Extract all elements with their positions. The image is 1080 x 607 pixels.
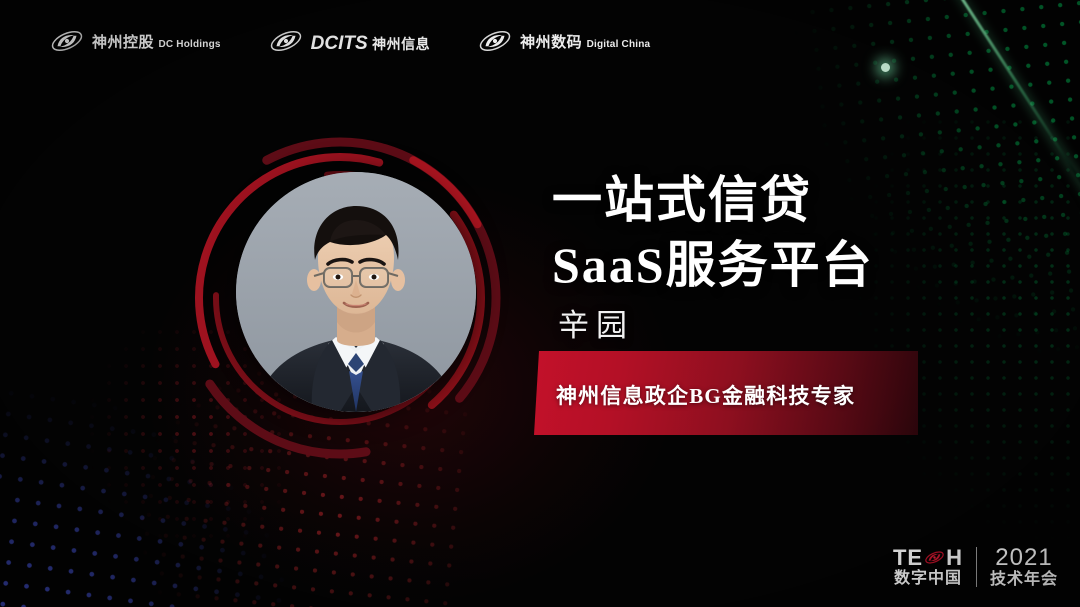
brand-logo-bar: 神州控股 DC Holdings DCITS 神州信息	[50, 28, 650, 59]
dc-swirl-icon	[478, 28, 512, 59]
brand-name-en: Digital China	[587, 39, 651, 50]
brand-logo-dcits: DCITS 神州信息	[269, 28, 430, 59]
light-streak	[942, 0, 1080, 222]
speaker-title-text: 神州信息政企BG金融科技专家	[556, 380, 855, 410]
brand-name-cn: 神州数码	[520, 34, 582, 51]
avatar	[236, 172, 476, 412]
brand-name-cn: 神州信息	[372, 36, 430, 52]
brand-name-en: DC Holdings	[158, 39, 220, 50]
tech-subtitle-cn: 数字中国	[893, 571, 963, 588]
title-line-1: 一站式信贷	[552, 168, 874, 233]
page-title: 一站式信贷 SaaS服务平台	[552, 168, 874, 298]
speaker-name: 辛园	[558, 300, 634, 345]
presentation-slide: 神州控股 DC Holdings DCITS 神州信息	[0, 0, 1080, 607]
dc-swirl-icon	[50, 28, 84, 59]
brand-logo-dc-holdings: 神州控股 DC Holdings	[50, 28, 221, 59]
light-streak-highlight	[881, 63, 890, 72]
brand-name-en: DCITS	[311, 33, 368, 54]
tech-wordmark: TE H	[893, 546, 963, 569]
title-line-2: SaaS服务平台	[552, 233, 874, 298]
event-year-subtitle-cn: 技术年会	[990, 572, 1058, 589]
vignette-overlay	[0, 0, 1080, 607]
brand-text: DCITS 神州信息	[311, 34, 430, 54]
event-logo-divider	[976, 547, 977, 587]
brand-text: 神州数码 Digital China	[520, 35, 650, 52]
tech-text-part2: H	[946, 546, 963, 569]
event-year: 2021	[990, 545, 1058, 570]
dc-swirl-icon	[269, 28, 303, 59]
brand-logo-digital-china: 神州数码 Digital China	[478, 28, 650, 59]
dc-swirl-icon	[924, 549, 945, 566]
brand-name-cn: 神州控股	[92, 34, 154, 51]
brand-text: 神州控股 DC Holdings	[92, 35, 221, 52]
event-logo-tech: TE H 数字中国	[893, 546, 963, 588]
event-logo-year: 2021 技术年会	[990, 545, 1058, 589]
event-logo: TE H 数字中国 2021 技术年会	[893, 545, 1058, 589]
tech-text-part1: TE	[893, 546, 923, 569]
